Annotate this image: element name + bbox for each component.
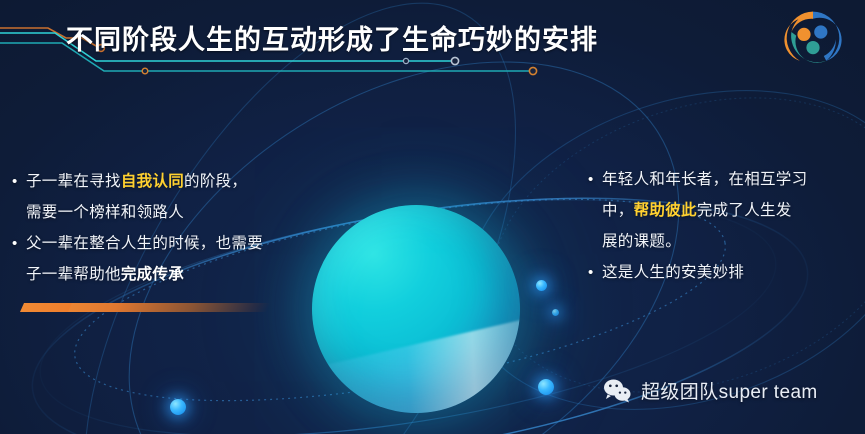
left-text-block: •子一辈在寻找自我认同的阶段，需要一个榜样和领路人•父一辈在整合人生的时候，也需… (12, 166, 312, 290)
watermark: 超级团队super team (602, 377, 818, 404)
body-text: 需要一个榜样和领路人 (26, 204, 184, 221)
body-text: 父一辈在整合人生的时候，也需要 (26, 235, 263, 252)
slide-header: 不同阶段人生的互动形成了生命巧妙的安排 (0, 0, 865, 92)
orbit-dot-right (538, 379, 554, 395)
body-text: 子一辈在寻找 (26, 173, 121, 190)
body-text: 中， (602, 202, 634, 219)
left-line: •父一辈在整合人生的时候，也需要 (12, 228, 312, 259)
bold-text: 完成传承 (121, 266, 184, 283)
accent-bar-short (20, 303, 72, 312)
body-text: 年轻人和年长者，在相互学习 (602, 171, 807, 188)
right-line: •年轻人和年长者，在相互学习 (588, 164, 863, 195)
right-text-block: •年轻人和年长者，在相互学习中，帮助彼此完成了人生发展的课题。•这是人生的安美妙… (588, 164, 863, 288)
body-text: 展的课题。 (602, 233, 681, 250)
slide-root: 不同阶段人生的互动形成了生命巧妙的安排 •子一辈在寻找自我认同的阶段，需要一个榜… (0, 0, 865, 434)
accent-bar-long (53, 303, 271, 312)
planet-sphere (312, 205, 520, 413)
highlight-text: 帮助彼此 (634, 202, 697, 219)
orbit-dot-left (170, 399, 186, 415)
left-line: •子一辈在寻找自我认同的阶段， (12, 166, 312, 197)
left-line: 子一辈帮助他完成传承 (12, 259, 312, 290)
body-text: 完成了人生发 (697, 202, 792, 219)
right-line: •这是人生的安美妙排 (588, 257, 863, 288)
bullet-marker: • (588, 164, 602, 195)
left-line: 需要一个榜样和领路人 (12, 197, 312, 228)
bullet-marker: • (588, 257, 602, 288)
watermark-text: 超级团队super team (641, 377, 818, 404)
right-line: 中，帮助彼此完成了人生发 (588, 195, 863, 226)
body-text: 的阶段， (184, 173, 247, 190)
orbit-dot-small-right (552, 309, 559, 316)
right-line: 展的课题。 (588, 226, 863, 257)
page-title: 不同阶段人生的互动形成了生命巧妙的安排 (66, 18, 598, 57)
bullet-marker: • (12, 228, 26, 259)
orbit-dot-upper-right (536, 280, 547, 291)
highlight-text: 自我认同 (121, 173, 184, 190)
bullet-marker: • (12, 166, 26, 197)
wechat-icon (602, 378, 632, 404)
body-text: 子一辈帮助他 (26, 266, 121, 283)
three-people-circle-logo (783, 8, 843, 68)
body-text: 这是人生的安美妙排 (602, 264, 744, 281)
